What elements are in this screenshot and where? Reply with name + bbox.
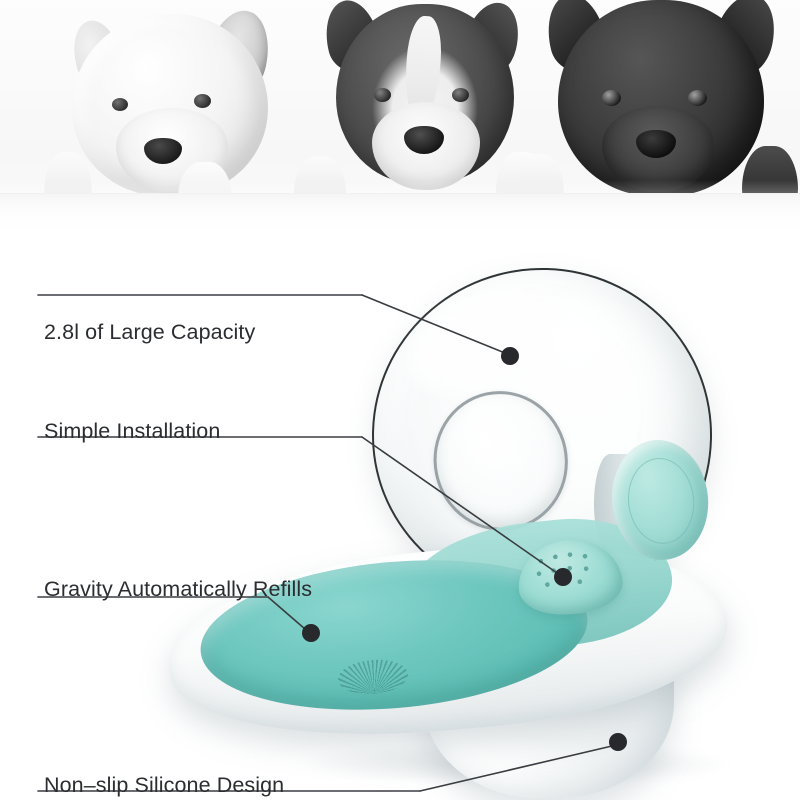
hero-photo [0, 0, 800, 250]
infographic-page: 2.8l of Large Capacity Simple Installati… [0, 0, 800, 800]
feature-label-gravity-refill: Gravity Automatically Refills [44, 577, 312, 602]
puppy-eye-left [374, 88, 391, 102]
cap-inner-ring [624, 455, 699, 547]
feature-label-installation: Simple Installation [44, 419, 220, 444]
feature-label-non-slip-base: Non–slip Silicone Design [44, 773, 284, 798]
puppy-eye-left [602, 90, 621, 106]
filter-perforations [530, 545, 608, 599]
puppy-eye-right [452, 88, 469, 102]
globe-highlight [396, 269, 569, 412]
photo-fade-overlay [0, 180, 800, 250]
puppy-eye-left [112, 98, 128, 111]
puppy-eye-right [688, 90, 707, 106]
puppy-eye-right [194, 94, 211, 108]
feature-label-capacity: 2.8l of Large Capacity [44, 320, 255, 345]
